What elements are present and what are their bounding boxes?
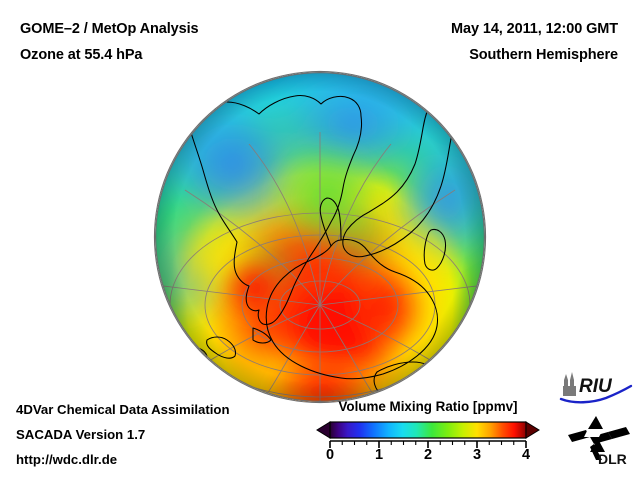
globe-disc xyxy=(155,72,485,402)
ozone-field-svg xyxy=(155,72,485,402)
figure-canvas: GOME–2 / MetOp Analysis Ozone at 55.4 hP… xyxy=(0,0,640,480)
colorbar-min-arrow xyxy=(317,422,330,438)
colorbar-gradient xyxy=(316,420,540,440)
ozone-globe-map xyxy=(155,72,485,402)
footer-version: SACADA Version 1.7 xyxy=(16,427,145,442)
dlr-logo: DLR xyxy=(566,415,636,467)
colorbar-title: Volume Mixing Ratio [ppmv] xyxy=(316,399,540,414)
colorbar-tick-4: 4 xyxy=(522,447,530,463)
colorbar-tick-2: 2 xyxy=(424,447,432,463)
colorbar-tick-labels: 0 1 2 3 4 xyxy=(316,447,540,469)
footer-url[interactable]: http://wdc.dlr.de xyxy=(16,452,117,467)
colorbar-bar xyxy=(330,422,526,438)
cathedral-spires-icon xyxy=(563,372,576,396)
limb-shading xyxy=(155,72,485,402)
riu-logo: RIU xyxy=(558,370,634,406)
header-region: Southern Hemisphere xyxy=(469,47,618,63)
colorbar-tick-3: 3 xyxy=(473,447,481,463)
riu-wordmark: RIU xyxy=(579,376,613,397)
colorbar-tick-0: 0 xyxy=(326,447,334,463)
header-datetime: May 14, 2011, 12:00 GMT xyxy=(451,21,618,37)
footer-method: 4DVar Chemical Data Assimilation xyxy=(16,402,230,417)
colorbar: Volume Mixing Ratio [ppmv] xyxy=(316,399,540,471)
dlr-wordmark: DLR xyxy=(598,451,627,467)
header-instrument-title: GOME–2 / MetOp Analysis xyxy=(20,21,198,37)
header-quantity-title: Ozone at 55.4 hPa xyxy=(20,47,142,63)
colorbar-max-arrow xyxy=(526,422,539,438)
ozone-field-layers xyxy=(155,72,485,402)
colorbar-tick-1: 1 xyxy=(375,447,383,463)
